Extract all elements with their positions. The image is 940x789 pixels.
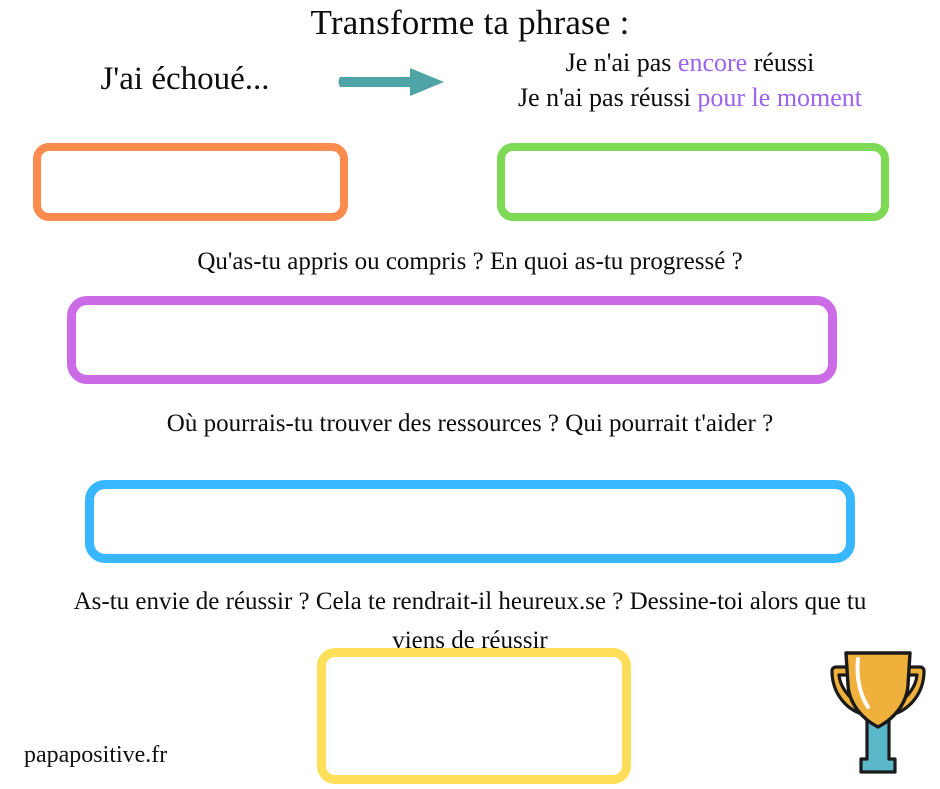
learning-answer-box[interactable] bbox=[67, 296, 837, 384]
reframe-line-1-before: Je n'ai pas bbox=[566, 48, 678, 77]
resources-answer-box[interactable] bbox=[85, 480, 855, 563]
drawing-answer-box[interactable] bbox=[317, 648, 631, 784]
failure-phrase-label: J'ai échoué... bbox=[40, 59, 330, 99]
right-arrow-icon bbox=[338, 66, 446, 98]
failure-answer-box[interactable] bbox=[33, 143, 348, 221]
page-title: Transforme ta phrase : bbox=[0, 2, 940, 44]
reframe-line-2: Je n'ai pas réussi pour le moment bbox=[440, 80, 940, 115]
site-credit: papapositive.fr bbox=[24, 740, 167, 770]
reframe-line-2-before: Je n'ai pas réussi bbox=[518, 83, 697, 112]
prompt-learning-label: Qu'as-tu appris ou compris ? En quoi as-… bbox=[60, 242, 880, 281]
reframe-answer-box[interactable] bbox=[497, 143, 889, 221]
trophy-icon bbox=[822, 641, 934, 784]
reframe-line-1-highlight: encore bbox=[678, 48, 747, 77]
reframe-line-1-after: réussi bbox=[747, 48, 814, 77]
reframe-phrases: Je n'ai pas encore réussi Je n'ai pas ré… bbox=[440, 45, 940, 115]
reframe-line-1: Je n'ai pas encore réussi bbox=[440, 45, 940, 80]
worksheet-canvas: Transforme ta phrase : J'ai échoué... Je… bbox=[0, 0, 940, 788]
prompt-resources-label: Où pourrais-tu trouver des ressources ? … bbox=[80, 404, 860, 443]
reframe-line-2-highlight: pour le moment bbox=[697, 83, 862, 112]
